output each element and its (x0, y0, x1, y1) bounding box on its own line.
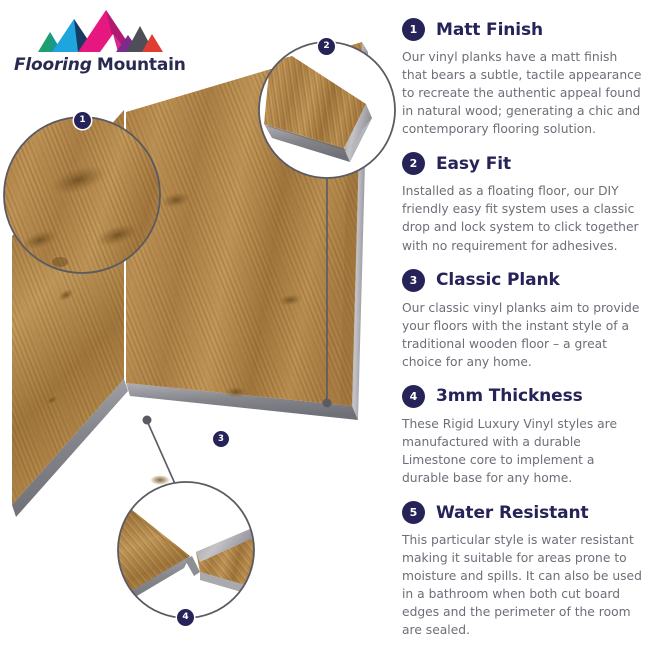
feature-body-5: This particular style is water resistant… (402, 531, 642, 639)
feature-item-1: 1 Matt Finish Our vinyl planks have a ma… (402, 18, 642, 138)
infographic-page: Flooring Mountain (0, 0, 650, 650)
feature-title-5: Water Resistant (436, 503, 589, 523)
feature-title-2: Easy Fit (436, 154, 511, 174)
feature-header: 4 3mm Thickness (402, 385, 642, 408)
feature-number-badge-5: 5 (402, 501, 425, 524)
feature-title-1: Matt Finish (436, 20, 543, 40)
feature-body-4: These Rigid Luxury Vinyl styles are manu… (402, 415, 642, 487)
illustration-marker-2[interactable]: 2 (318, 38, 335, 55)
callout-circle-4 (108, 482, 262, 618)
callout-circle-2 (259, 42, 395, 178)
feature-number-badge-3: 3 (402, 269, 425, 292)
feature-item-2: 2 Easy Fit Installed as a floating floor… (402, 152, 642, 254)
feature-item-4: 4 3mm Thickness These Rigid Luxury Vinyl… (402, 385, 642, 487)
feature-number-badge-2: 2 (402, 152, 425, 175)
feature-list: 1 Matt Finish Our vinyl planks have a ma… (402, 18, 642, 650)
feature-body-1: Our vinyl planks have a matt finish that… (402, 48, 642, 138)
feature-number-badge-1: 1 (402, 18, 425, 41)
feature-title-3: Classic Plank (436, 270, 560, 290)
feature-item-3: 3 Classic Plank Our classic vinyl planks… (402, 269, 642, 371)
feature-item-5: 5 Water Resistant This particular style … (402, 501, 642, 639)
feature-header: 5 Water Resistant (402, 501, 642, 524)
feature-body-3: Our classic vinyl planks aim to provide … (402, 299, 642, 371)
feature-number-badge-4: 4 (402, 385, 425, 408)
feature-header: 1 Matt Finish (402, 18, 642, 41)
feature-header: 2 Easy Fit (402, 152, 642, 175)
vinyl-plank-illustration (0, 0, 400, 650)
illustration-marker-4[interactable]: 4 (177, 609, 194, 626)
feature-body-2: Installed as a floating floor, our DIY f… (402, 182, 642, 254)
illustration-marker-3[interactable]: 3 (213, 431, 229, 447)
feature-title-4: 3mm Thickness (436, 386, 583, 406)
feature-header: 3 Classic Plank (402, 269, 642, 292)
illustration-marker-1[interactable]: 1 (74, 112, 91, 129)
